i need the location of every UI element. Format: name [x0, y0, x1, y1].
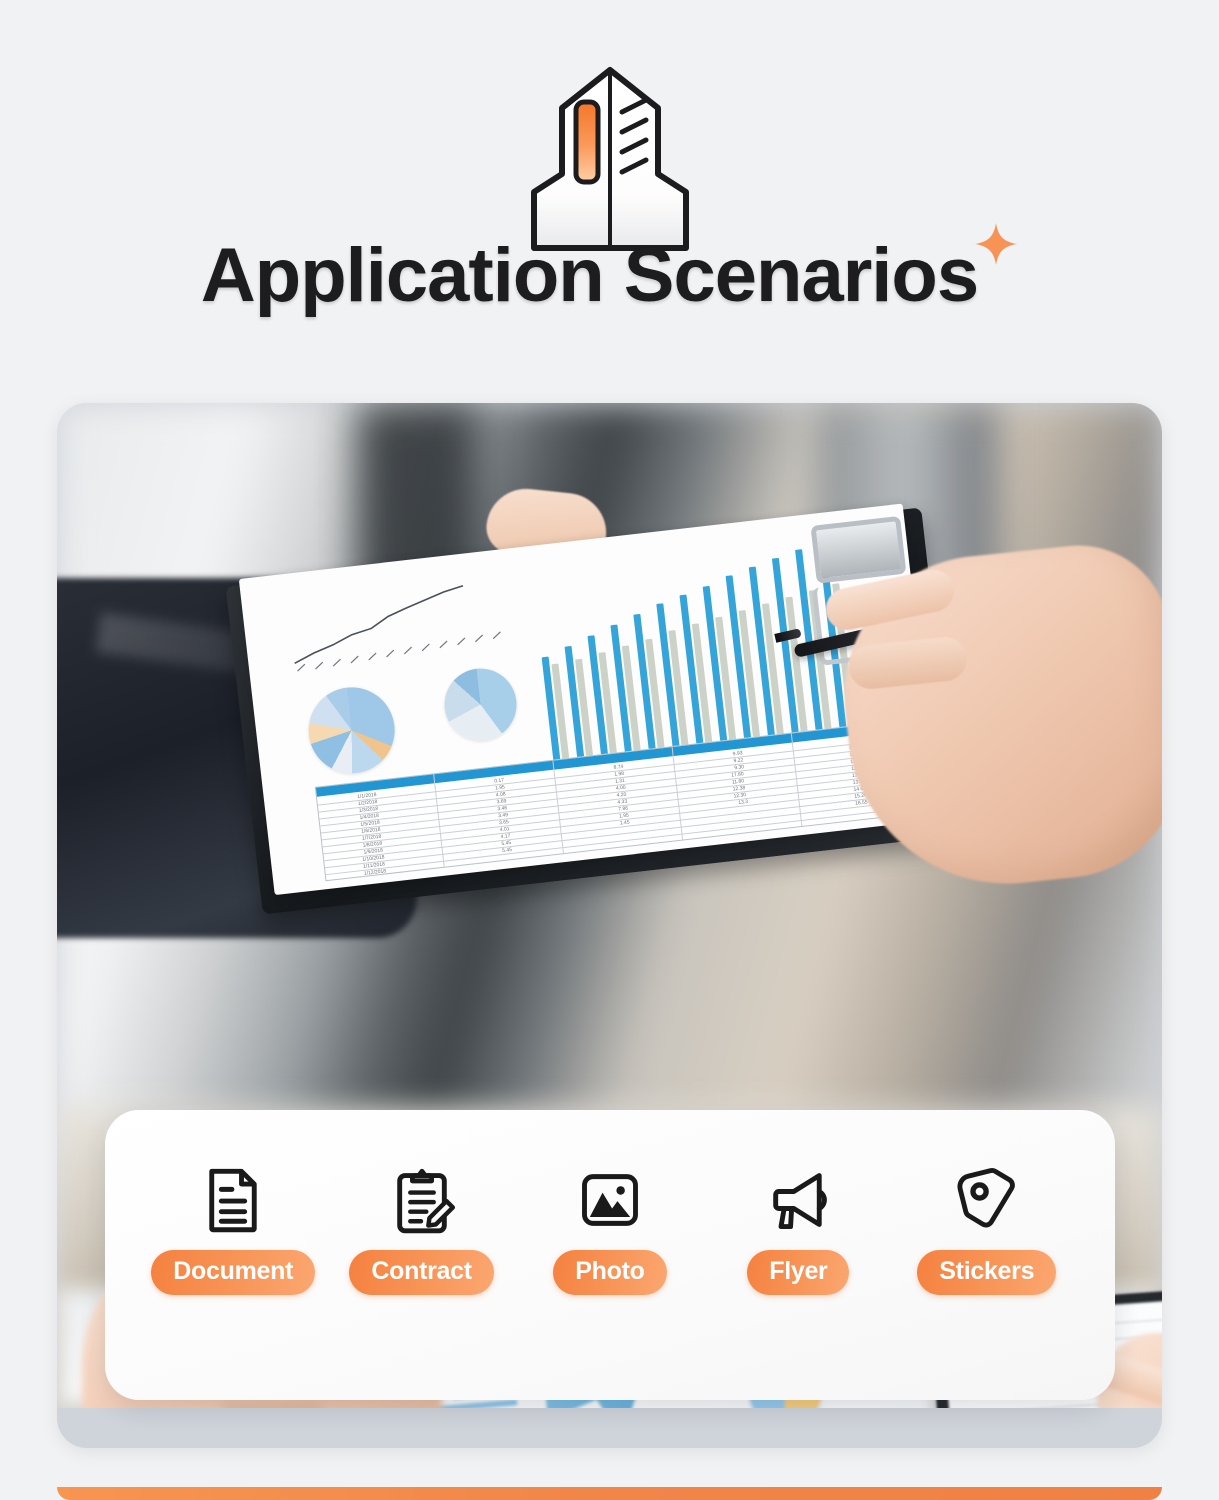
clipboard-clip [810, 516, 906, 584]
building-logo-icon [500, 62, 720, 252]
application-scenarios-page: Application Scenarios [0, 0, 1219, 1500]
scenario-item-stickers[interactable]: Stickers [897, 1166, 1077, 1295]
scenario-label-photo: Photo [553, 1250, 666, 1295]
document-icon [199, 1166, 267, 1234]
scenario-label-contract: Contract [349, 1250, 493, 1295]
megaphone-icon [764, 1166, 832, 1234]
photo-image-icon [576, 1166, 644, 1234]
sparkle-icon [974, 222, 1018, 266]
scenario-item-flyer[interactable]: Flyer [708, 1166, 888, 1295]
scenario-item-contract[interactable]: Contract [332, 1166, 512, 1295]
header: Application Scenarios [0, 0, 1219, 380]
price-tag-icon [953, 1166, 1021, 1234]
page-title: Application Scenarios [201, 238, 978, 314]
scenario-item-document[interactable]: Document [143, 1166, 323, 1295]
orange-accent-bar [57, 1487, 1162, 1500]
contract-clipboard-icon [388, 1166, 456, 1234]
report-pie-chart-1 [304, 683, 399, 778]
report-line-chart [281, 570, 538, 678]
scenario-label-document: Document [151, 1250, 315, 1295]
scenario-feature-card: Document Contract [105, 1110, 1115, 1400]
scenario-list: Document Contract [105, 1166, 1115, 1295]
scenario-label-flyer: Flyer [747, 1250, 849, 1295]
scenario-item-photo[interactable]: Photo [520, 1166, 700, 1295]
title-row: Application Scenarios [0, 238, 1219, 314]
report-pie-chart-2 [441, 665, 521, 745]
scenario-label-stickers: Stickers [917, 1250, 1056, 1295]
